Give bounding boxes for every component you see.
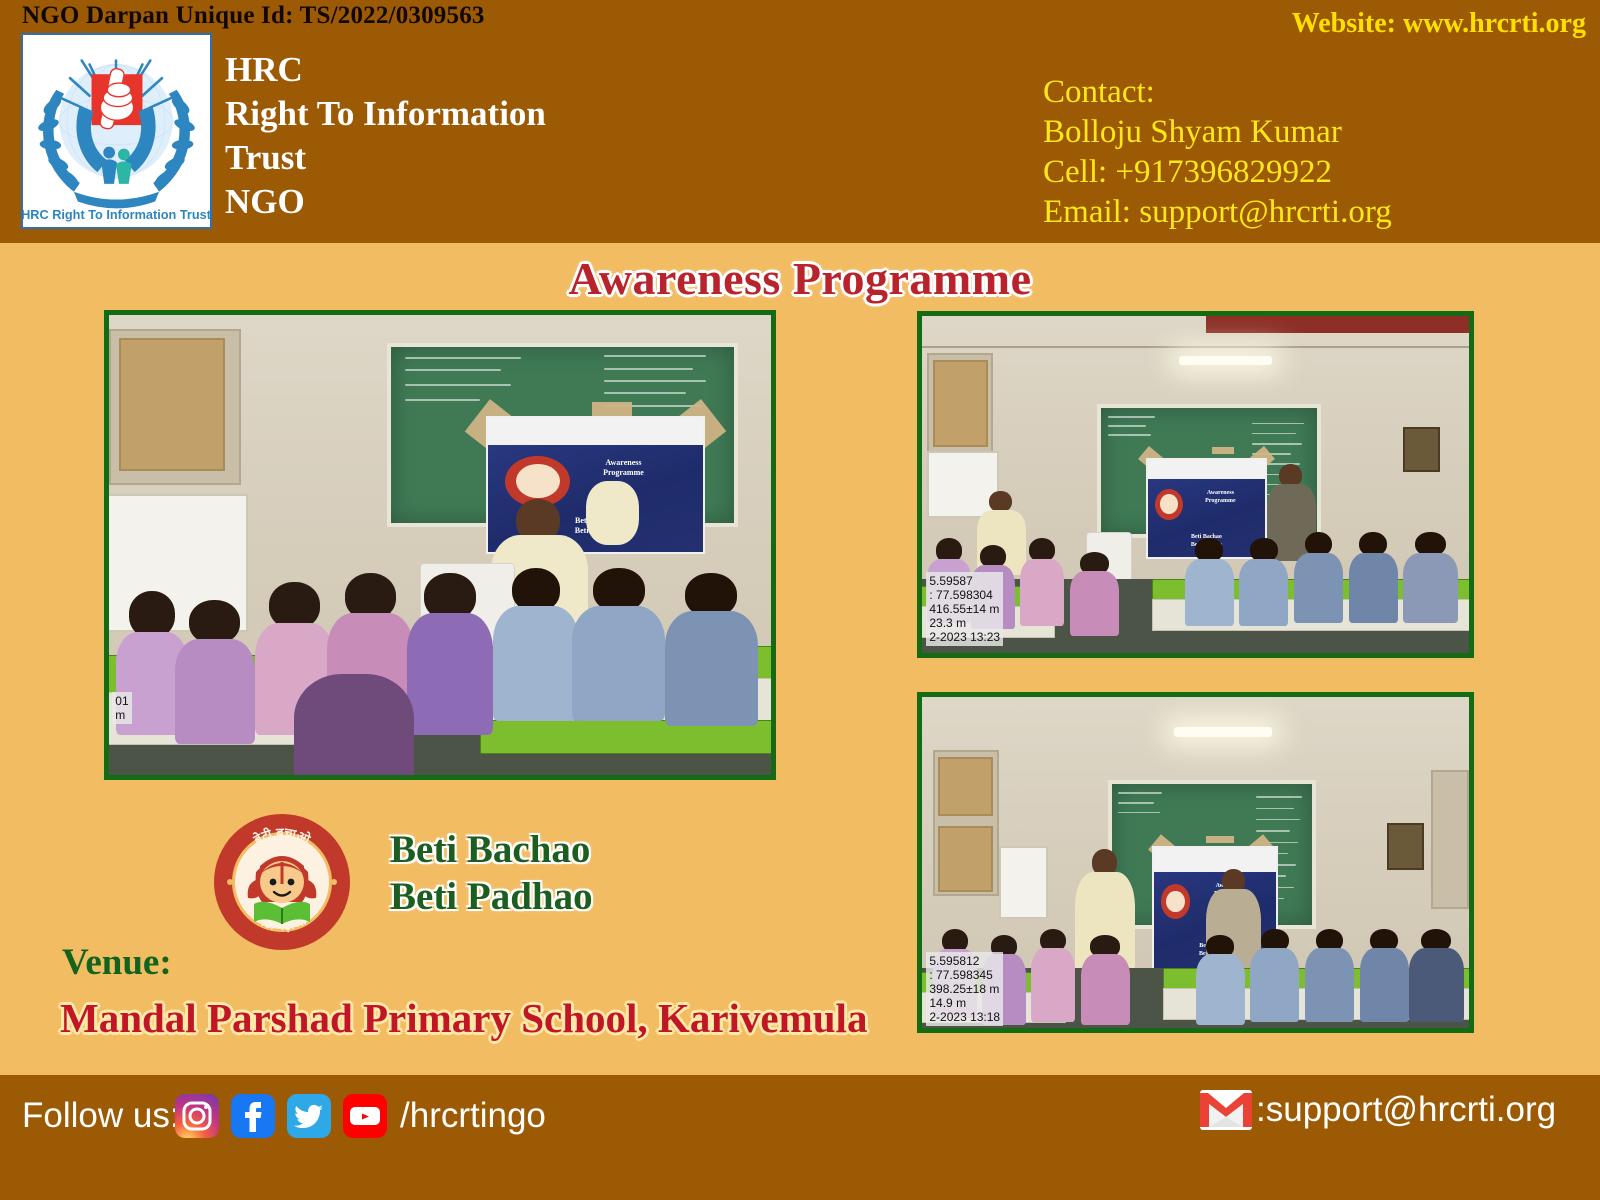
student [1409,929,1464,1018]
twitter-icon[interactable] [287,1094,331,1138]
student [1360,929,1409,1018]
student [407,573,493,729]
gmail-icon [1200,1090,1252,1130]
gps-overlay-top-right: 5.59587 : 77.598304 416.55±14 m 23.3 m 2… [926,572,1003,646]
classroom-scene-main: AwarenessProgramme Beti BachaoBeti Padha… [109,315,771,775]
gps-overlay-main: 01 m [112,692,131,724]
scheme-line1: Beti Bachao [390,828,590,871]
scheme-title: Beti BachaoBeti Padhao [390,826,593,920]
speaker-arm [586,481,639,545]
photo-bottom-right: AwarenessProgramme Beti BachaoBeti Padha… [917,692,1474,1033]
footer-email[interactable]: :support@hrcrti.org [1200,1090,1556,1130]
poster-root: NGO Darpan Unique Id: TS/2022/0309563 [0,0,1600,1200]
student [294,674,413,780]
hrc-logo: HRC Right To Information Trust [21,33,212,229]
student [1196,935,1245,1021]
social-handle: /hrcrtingo [400,1096,546,1136]
student [1349,532,1398,620]
student [665,573,758,720]
student [1250,929,1299,1018]
venue-label: Venue: [62,941,172,984]
classroom-scene-top-right: AwarenessProgramme Beti BachaoBeti Padha… [922,316,1469,653]
student [1294,532,1343,620]
gps-overlay-bottom-right: 5.595812 : 77.598345 398.25±18 m 14.9 m … [926,952,1003,1026]
social-links [175,1094,387,1138]
website-link[interactable]: Website: www.hrcrti.org [1292,8,1586,40]
student [1239,538,1288,622]
student [1185,538,1234,622]
photo-top-right: AwarenessProgramme Beti BachaoBeti Padha… [917,311,1474,658]
follow-us-label: Follow us: [22,1096,180,1136]
youtube-icon[interactable] [343,1094,387,1138]
beti-bachao-emblem-icon: बेटी बचाओ बेटी पढ़ाओ [212,812,352,952]
student [493,568,579,715]
student [572,568,665,715]
page-title: Awareness Programme [0,252,1600,305]
photo-main: AwarenessProgramme Beti BachaoBeti Padha… [104,310,776,780]
ngo-darpan-id: NGO Darpan Unique Id: TS/2022/0309563 [22,2,485,30]
student [1305,929,1354,1018]
hrc-logo-caption: HRC Right To Information Trust [23,207,210,222]
contact-details: Contact: Bolloju Shyam Kumar Cell: +9173… [1043,72,1392,232]
beti-bachao-logo: बेटी बचाओ बेटी पढ़ाओ [212,812,352,952]
student [1070,552,1119,633]
scheme-line2: Beti Padhao [390,875,593,918]
student [1020,538,1064,622]
student [1403,532,1458,620]
hrc-logo-icon: HRC Right To Information Trust [23,35,210,227]
classroom-scene-bottom-right: AwarenessProgramme Beti BachaoBeti Padha… [922,697,1469,1028]
student [1031,929,1075,1018]
header-bar: NGO Darpan Unique Id: TS/2022/0309563 [0,0,1600,243]
student [1081,935,1130,1021]
student [175,600,254,738]
instagram-icon[interactable] [175,1094,219,1138]
banner-title-in-photo: AwarenessProgramme [557,458,690,478]
facebook-icon[interactable] [231,1094,275,1138]
venue-name: Mandal Parshad Primary School, Karivemul… [60,994,867,1042]
organisation-name: HRC Right To Information Trust NGO [225,48,546,224]
footer-email-text: :support@hrcrti.org [1256,1090,1556,1130]
